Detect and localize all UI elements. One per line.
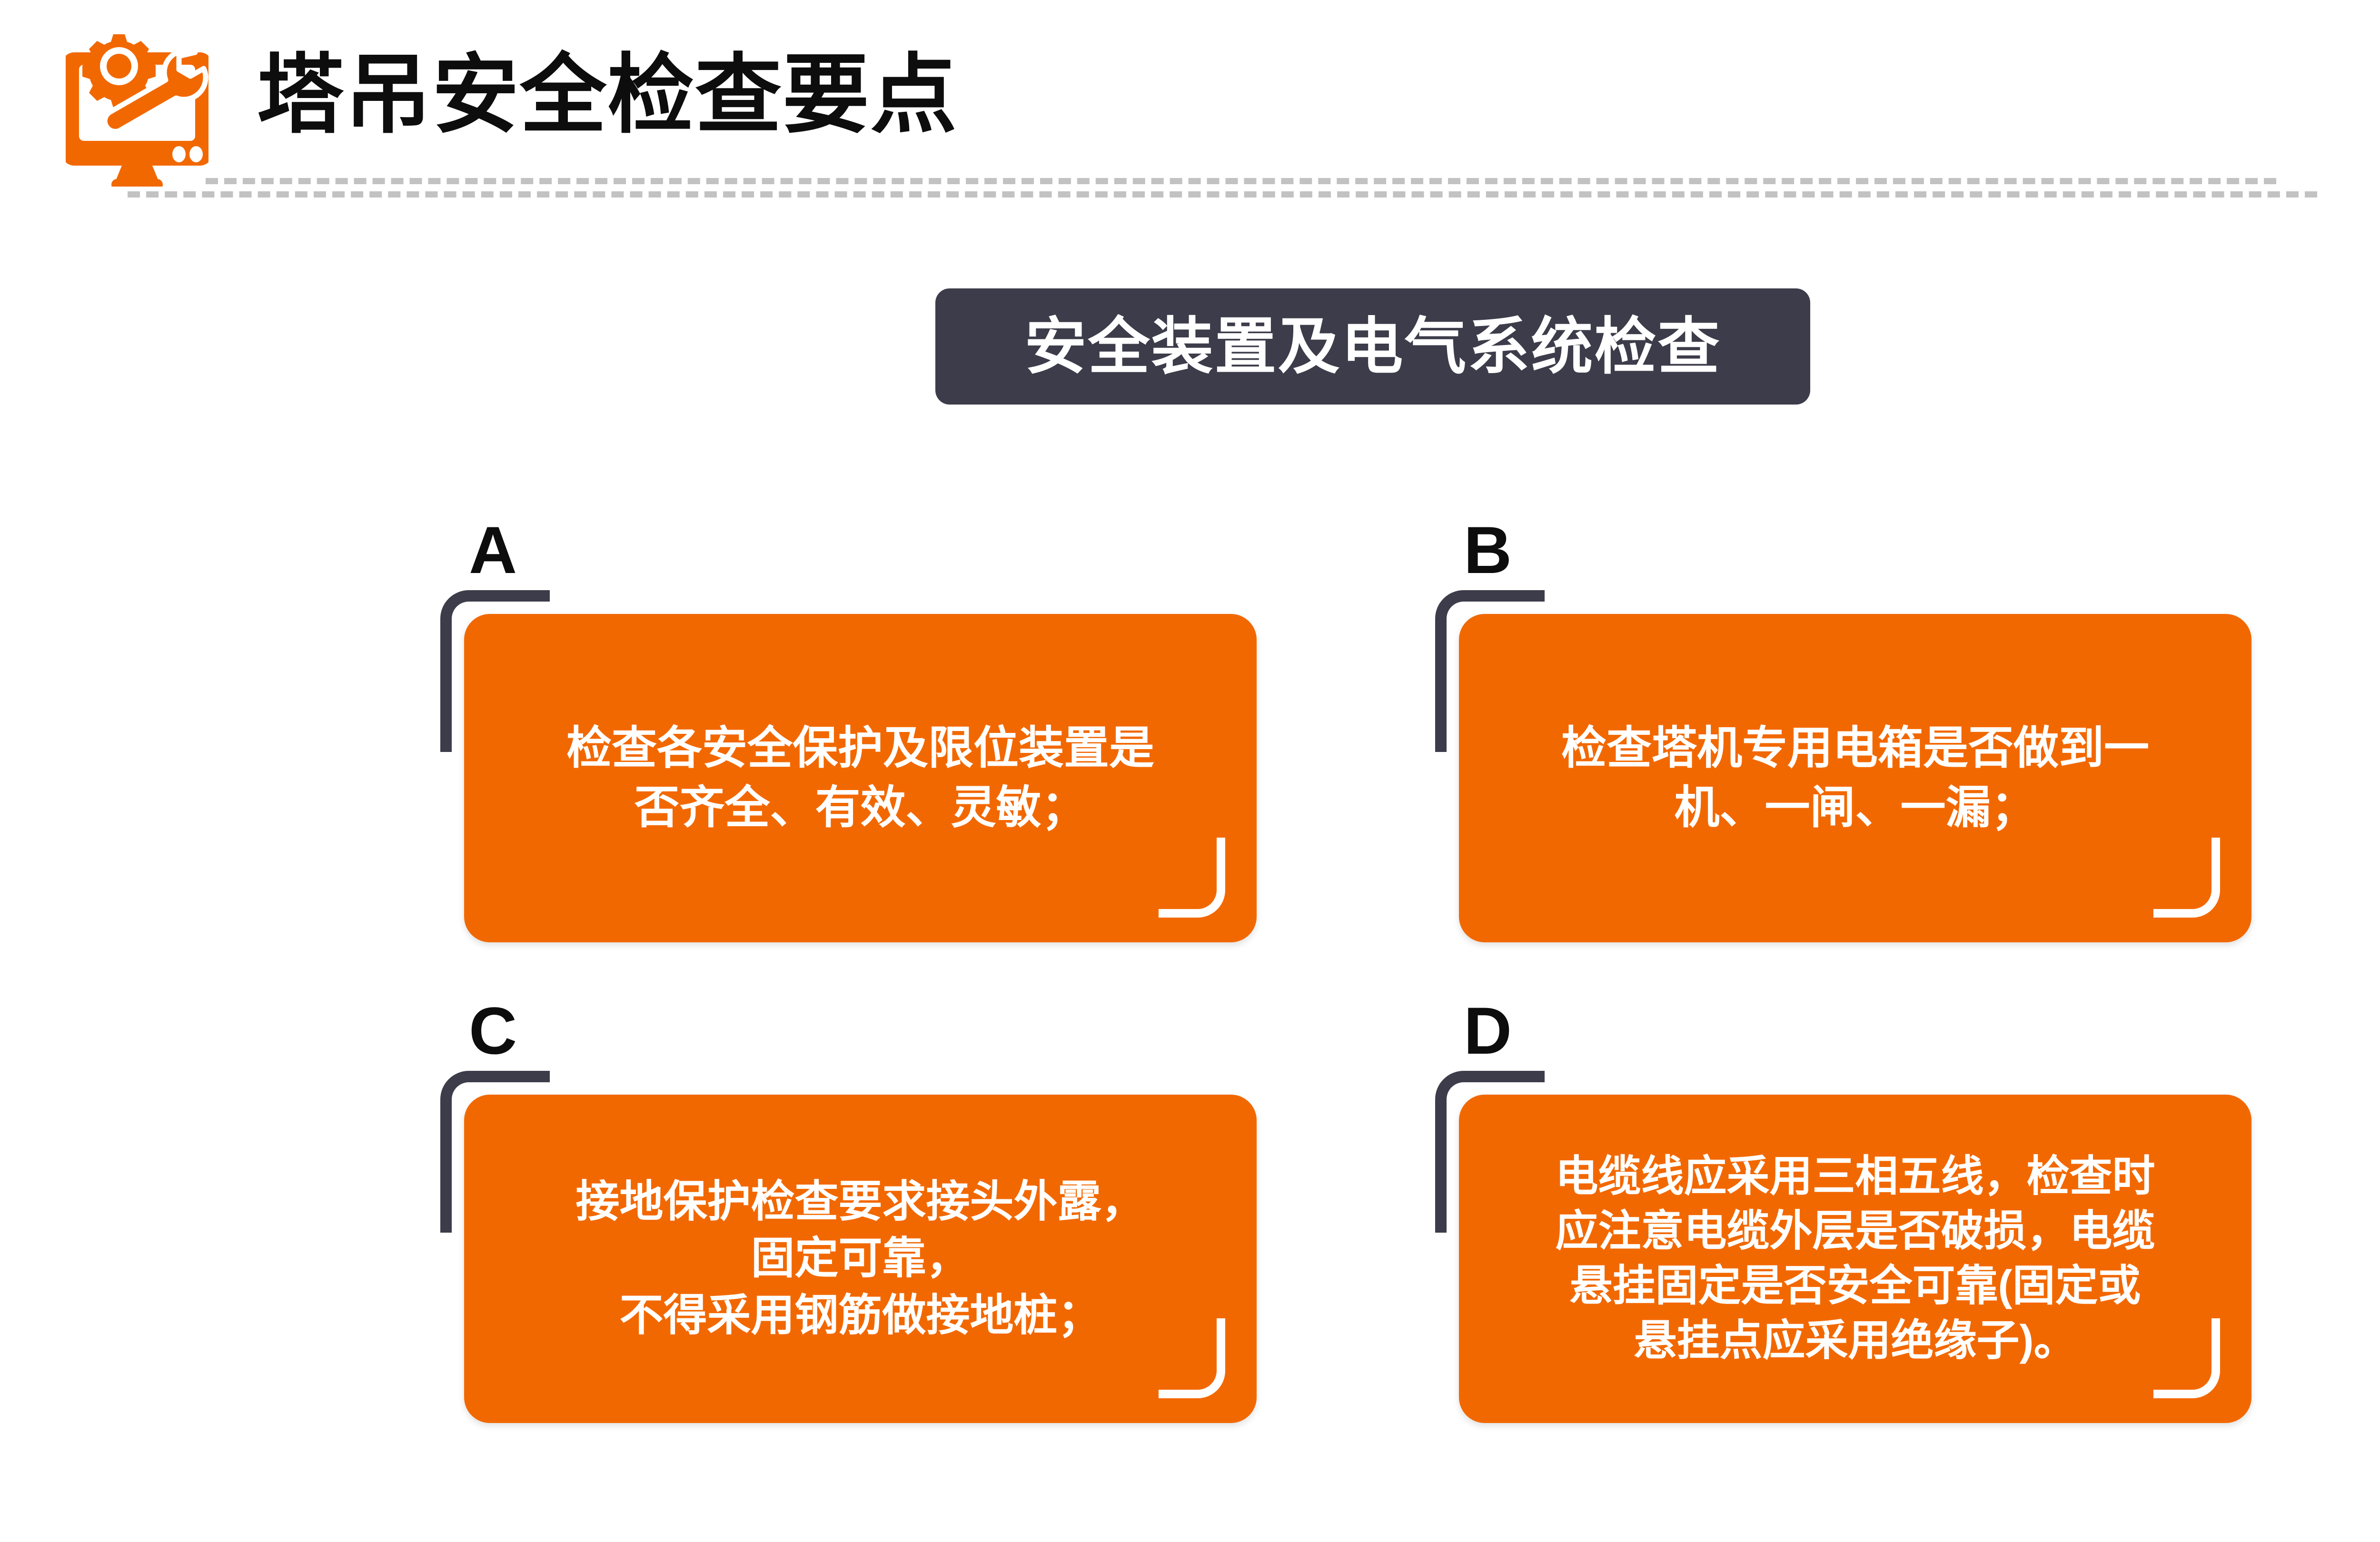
card-text-b: 检查塔机专用电箱是否做到一 机、一闸、一漏； xyxy=(1528,719,2182,838)
checkpoint-card-d[interactable]: D 电缆线应采用三相五线，检查时 应注意电缆外层是否破损，电缆 悬挂固定是否安全… xyxy=(1435,980,2340,1428)
corner-bracket-light-icon xyxy=(2153,838,2220,918)
checkpoint-card-grid: A 检查各安全保护及限位装置是 否齐全、有效、灵敏； B 检查塔机专用电箱是否做… xyxy=(0,0,2380,1542)
checkpoint-card-c[interactable]: C 接地保护检查要求接头外露， 固定可靠， 不得采用钢筋做接地桩； xyxy=(440,980,1292,1428)
card-body-a[interactable]: 检查各安全保护及限位装置是 否齐全、有效、灵敏； xyxy=(464,614,1257,942)
card-text-d: 电缆线应采用三相五线，检查时 应注意电缆外层是否破损，电缆 悬挂固定是否安全可靠… xyxy=(1522,1149,2189,1369)
card-text-c: 接地保护检查要求接头外露， 固定可靠， 不得采用钢筋做接地桩； xyxy=(542,1174,1178,1344)
card-body-d[interactable]: 电缆线应采用三相五线，检查时 应注意电缆外层是否破损，电缆 悬挂固定是否安全可靠… xyxy=(1459,1095,2251,1423)
card-letter-d: D xyxy=(1464,998,1512,1064)
corner-bracket-light-icon xyxy=(1159,838,1225,918)
checkpoint-card-a[interactable]: A 检查各安全保护及限位装置是 否齐全、有效、灵敏； xyxy=(440,500,1292,947)
card-text-a: 检查各安全保护及限位装置是 否齐全、有效、灵敏； xyxy=(533,719,1188,838)
card-letter-a: A xyxy=(469,517,517,583)
card-letter-b: B xyxy=(1464,517,1512,583)
card-body-c[interactable]: 接地保护检查要求接头外露， 固定可靠， 不得采用钢筋做接地桩； xyxy=(464,1095,1257,1423)
card-letter-c: C xyxy=(469,998,517,1064)
checkpoint-card-b[interactable]: B 检查塔机专用电箱是否做到一 机、一闸、一漏； xyxy=(1435,500,2340,947)
card-body-b[interactable]: 检查塔机专用电箱是否做到一 机、一闸、一漏； xyxy=(1459,614,2251,942)
